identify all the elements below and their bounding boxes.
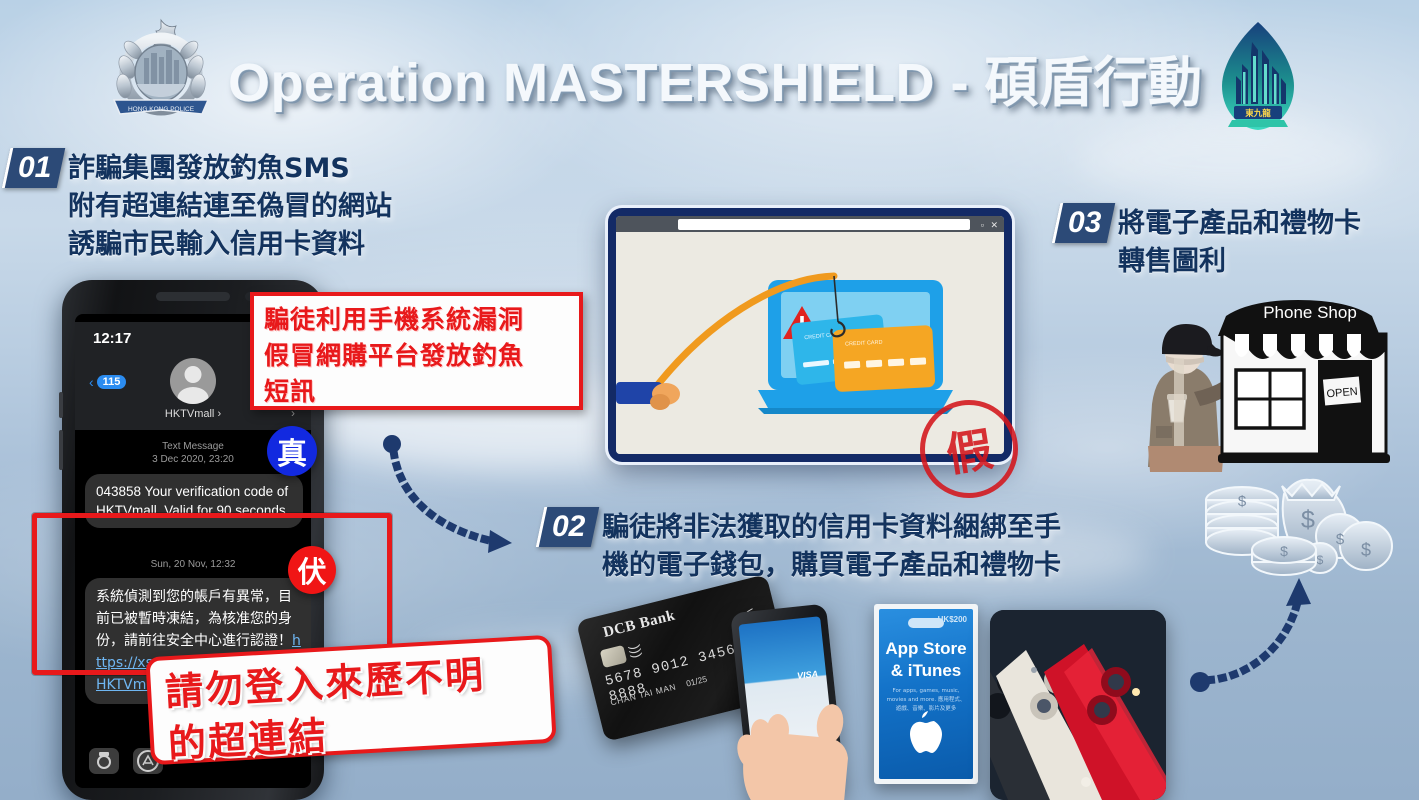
shop-building: Phone Shop OPEN — [1218, 300, 1390, 463]
hand-illustration — [726, 690, 856, 800]
east-kowloon-district-badge-icon: 東九龍 — [1212, 20, 1304, 132]
status-bar-time: 12:17 — [93, 330, 131, 347]
step-03-num-label: 03 — [1068, 203, 1101, 243]
dollar-symbol: $ — [1317, 553, 1324, 567]
gift-card-price: HK$200 — [938, 615, 967, 624]
phone-volume-button[interactable] — [59, 430, 63, 470]
title-chinese: 碩盾行動 — [985, 51, 1203, 114]
gift-card-title-line1: App Store — [879, 639, 973, 659]
phone-volume-button[interactable] — [59, 392, 63, 418]
sender-avatar — [170, 358, 216, 404]
app-store-gift-card: HK$200 App Store & iTunes For apps, game… — [874, 604, 978, 784]
step-number-02: 02 — [536, 507, 600, 547]
browser-title-bar: ▫ ✕ — [616, 216, 1004, 232]
contactless-icon: ))) — [628, 643, 646, 659]
callout-hack-method: 騙徒利用手機系統漏洞 假冒網購平台發放釣魚 短訊 — [250, 292, 583, 410]
step-number-03: 03 — [1052, 203, 1116, 243]
page-title: Operation MASTERSHIELD - 碩盾行動 — [228, 38, 1203, 117]
gift-card-face: HK$200 App Store & iTunes For apps, game… — [879, 609, 973, 779]
phone-earpiece — [156, 292, 230, 301]
svg-text:HONG KONG POLICE: HONG KONG POLICE — [128, 106, 195, 113]
status-badge-real: 真 — [267, 426, 317, 476]
dollar-symbol: $ — [1336, 531, 1345, 548]
sender-detail-chevron-icon: › — [217, 408, 221, 420]
dollar-symbol: $ — [1301, 506, 1315, 534]
browser-address-bar[interactable] — [678, 219, 970, 230]
step-02-text: 騙徒將非法獲取的信用卡資料綑綁至手 機的電子錢包，購買電子產品和禮物卡 — [602, 509, 1061, 585]
step-01-num-label: 01 — [18, 148, 51, 188]
phone-shop-illustration: Phone Shop OPEN — [1122, 286, 1412, 476]
district-badge-text: 東九龍 — [1245, 108, 1271, 119]
dollar-symbol: $ — [1361, 540, 1371, 560]
dollar-symbol: $ — [1280, 543, 1288, 559]
status-badge-fake: 伏 — [288, 546, 336, 594]
gift-card-title-line2: & iTunes — [879, 661, 973, 681]
sender-name-label: HKTVmall — [165, 408, 215, 420]
hong-kong-police-crest-icon: HONG KONG POLICE — [100, 12, 222, 132]
card-bank-name: DCB Bank — [602, 608, 678, 642]
unread-count-badge: 115 — [97, 375, 127, 389]
step-03-text: 將電子產品和禮物卡 轉售圖利 — [1118, 205, 1361, 281]
messages-back-button[interactable]: ‹ 115 — [89, 374, 126, 390]
step-number-01: 01 — [2, 148, 66, 188]
browser-window-controls[interactable]: ▫ ✕ — [981, 220, 1000, 231]
money-illustration: $ $ $ $ $ $ — [1196, 466, 1400, 584]
card-chip-icon — [600, 645, 628, 668]
cloud-wisp — [1080, 120, 1380, 200]
title-english: Operation MASTERSHIELD — [228, 53, 935, 113]
dollar-symbol: $ — [1238, 493, 1247, 510]
chevron-left-icon: ‹ — [89, 374, 94, 390]
step-02-num-label: 02 — [552, 507, 585, 547]
camera-icon[interactable] — [89, 748, 119, 774]
apple-logo-icon — [906, 709, 946, 755]
callout-warning: 請勿登入來歷不明 的超連結 — [145, 635, 556, 765]
iphone-products-image — [990, 610, 1166, 800]
visa-logo-label: VISA — [797, 669, 819, 681]
title-separator: - — [935, 53, 985, 113]
step-01-text: 詐騙集團發放釣魚SMS 附有超連結連至偽冒的網站 誘騙市民輸入信用卡資料 — [68, 150, 392, 264]
poster-canvas: HONG KONG POLICE Operation MASTERSHIELD … — [0, 0, 1419, 800]
shop-sign-label: Phone Shop — [1263, 303, 1357, 322]
